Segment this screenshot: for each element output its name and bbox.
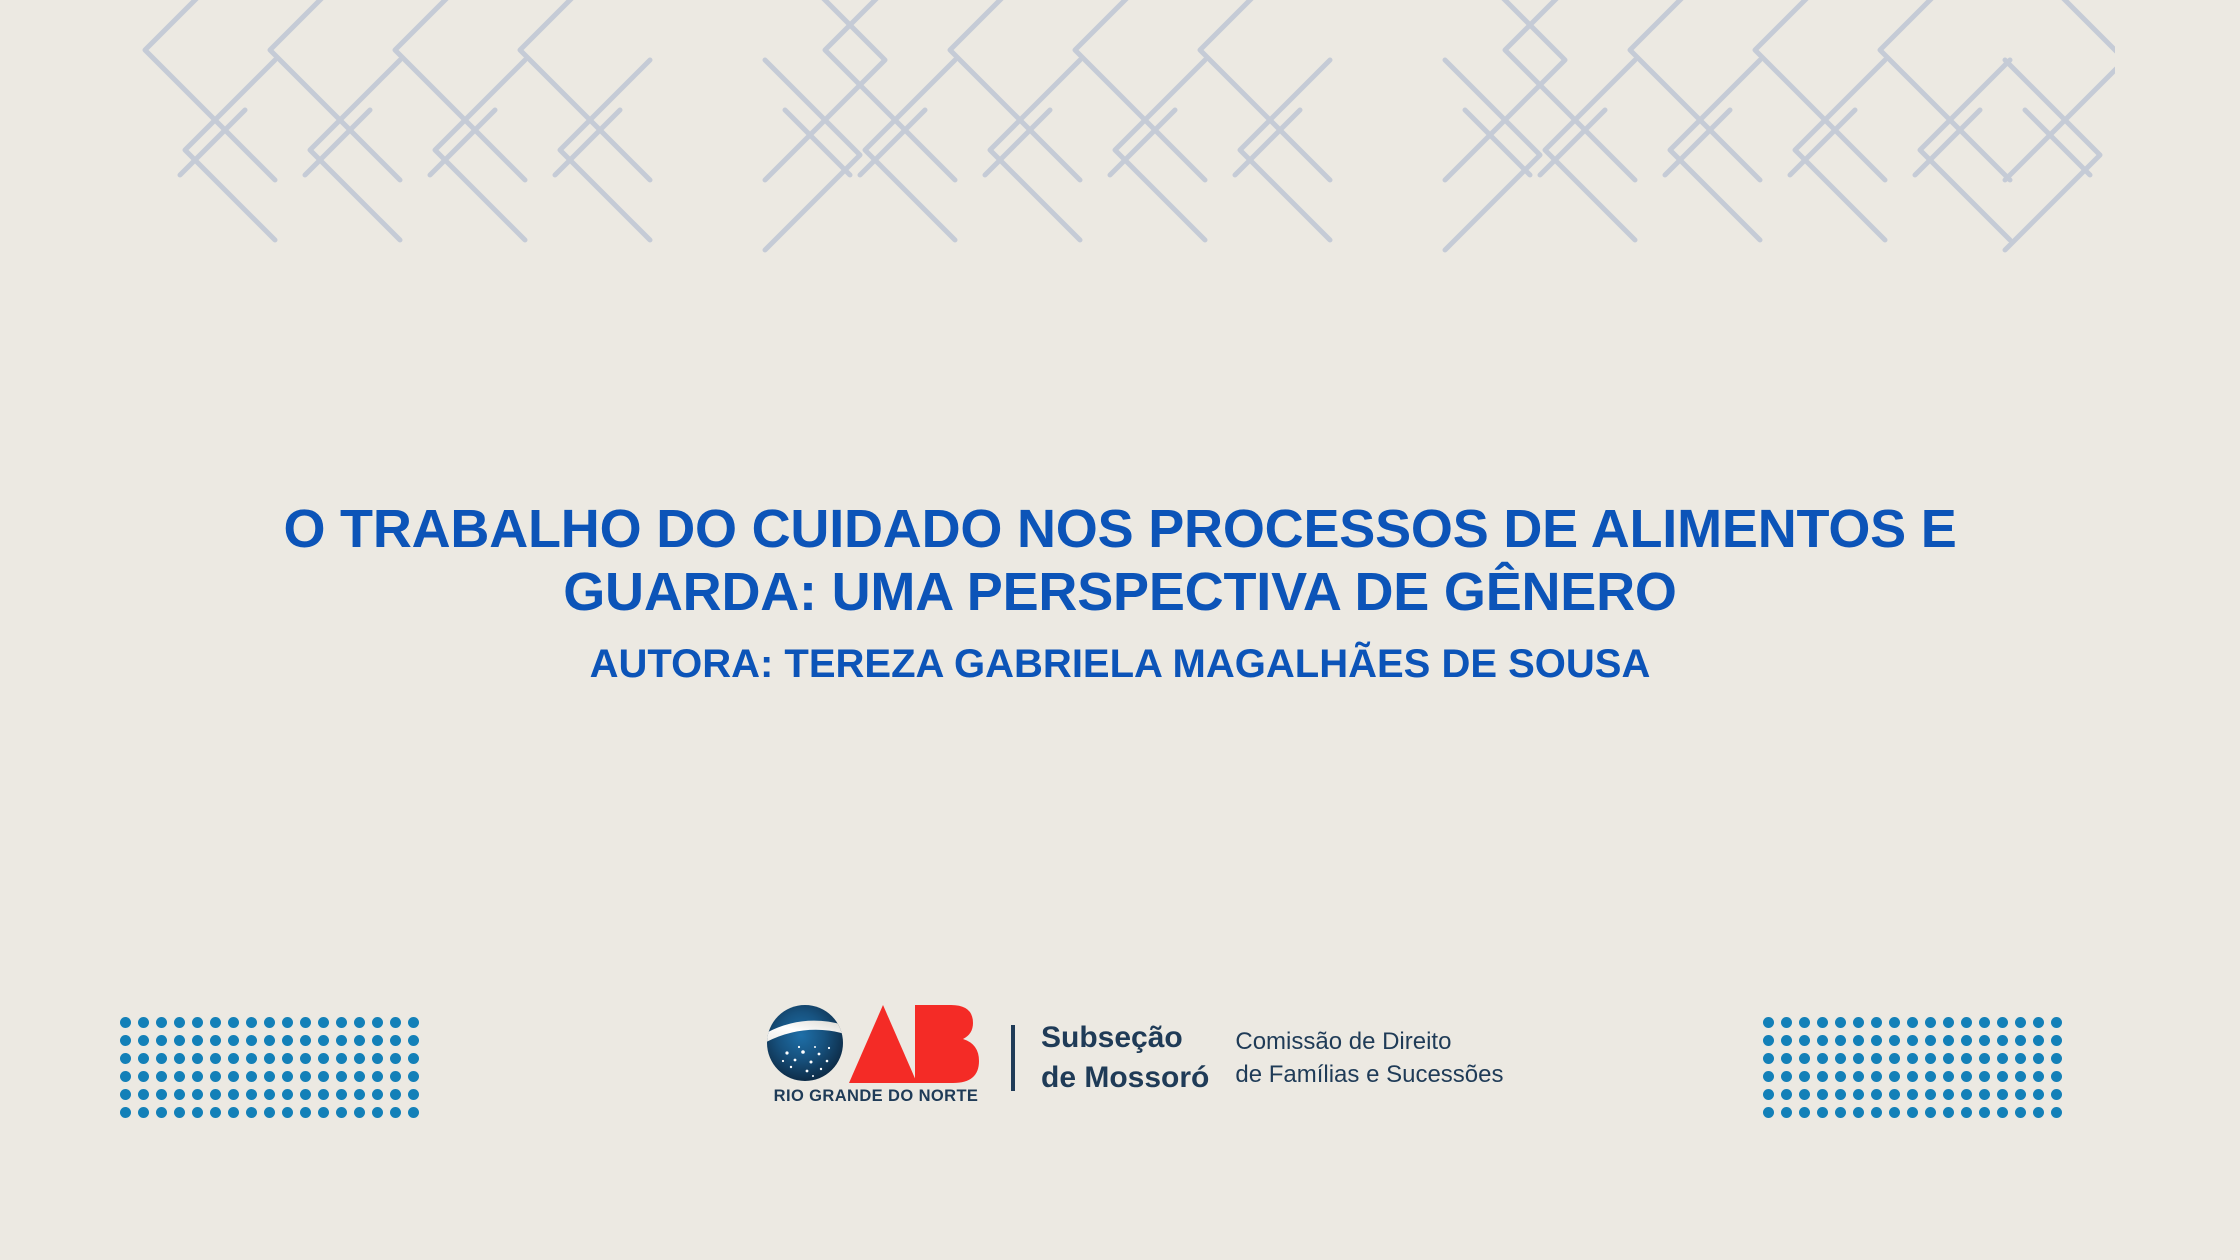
decorative-dot — [1979, 1017, 1990, 1028]
decorative-dot — [246, 1089, 257, 1100]
decorative-dot — [390, 1035, 401, 1046]
decorative-dot — [354, 1071, 365, 1082]
decorative-dot — [300, 1107, 311, 1118]
decorative-dot — [354, 1089, 365, 1100]
decorative-dot — [390, 1071, 401, 1082]
decorative-dot — [1889, 1035, 1900, 1046]
decorative-dot — [1925, 1071, 1936, 1082]
decorative-dot — [1997, 1053, 2008, 1064]
decorative-dot — [354, 1017, 365, 1028]
decorative-dot — [1853, 1089, 1864, 1100]
decorative-dot — [1889, 1089, 1900, 1100]
decorative-dot — [1925, 1035, 1936, 1046]
decorative-dot — [336, 1107, 347, 1118]
decorative-dot — [1781, 1071, 1792, 1082]
title-block: O TRABALHO DO CUIDADO NOS PROCESSOS DE A… — [0, 498, 2240, 688]
decorative-dot — [408, 1071, 419, 1082]
decorative-dot — [120, 1071, 131, 1082]
decorative-dot — [138, 1035, 149, 1046]
decorative-dot — [1979, 1107, 1990, 1118]
decorative-dot — [1781, 1017, 1792, 1028]
decorative-dot — [318, 1107, 329, 1118]
decorative-dot — [246, 1107, 257, 1118]
decorative-dot — [156, 1107, 167, 1118]
decorative-dot — [372, 1089, 383, 1100]
decorative-dot — [372, 1053, 383, 1064]
decorative-dot — [264, 1053, 275, 1064]
decorative-dot — [372, 1017, 383, 1028]
decorative-dot — [138, 1053, 149, 1064]
decorative-dot — [282, 1107, 293, 1118]
decorative-dot — [192, 1035, 203, 1046]
decorative-dot — [1853, 1017, 1864, 1028]
decorative-dot — [1889, 1017, 1900, 1028]
decorative-dot — [1871, 1071, 1882, 1082]
decorative-dot — [2033, 1035, 2044, 1046]
decorative-dot — [246, 1071, 257, 1082]
decorative-dot — [1817, 1053, 1828, 1064]
decorative-dot — [1871, 1089, 1882, 1100]
decorative-dot — [138, 1071, 149, 1082]
decorative-dot — [336, 1071, 347, 1082]
decorative-dot — [372, 1071, 383, 1082]
decorative-dot — [1925, 1089, 1936, 1100]
decorative-dot — [1781, 1053, 1792, 1064]
decorative-dot — [300, 1017, 311, 1028]
decorative-dot — [156, 1035, 167, 1046]
decorative-dot — [210, 1053, 221, 1064]
decorative-dot — [1799, 1089, 1810, 1100]
decorative-dot — [2015, 1053, 2026, 1064]
decorative-dot — [2051, 1089, 2062, 1100]
commission-line-1: Comissão de Direito — [1235, 1025, 1503, 1058]
decorative-dot — [1907, 1107, 1918, 1118]
decorative-dot — [1763, 1089, 1774, 1100]
chevron-pattern-decoration — [125, 0, 2115, 275]
decorative-dot — [2033, 1071, 2044, 1082]
decorative-dot — [156, 1053, 167, 1064]
decorative-dot — [1943, 1017, 1954, 1028]
title-slide: O TRABALHO DO CUIDADO NOS PROCESSOS DE A… — [0, 0, 2240, 1260]
decorative-dot — [354, 1053, 365, 1064]
decorative-dot — [318, 1017, 329, 1028]
decorative-dot — [156, 1089, 167, 1100]
decorative-dot — [1961, 1089, 1972, 1100]
decorative-dot — [1907, 1071, 1918, 1082]
decorative-dot — [2051, 1035, 2062, 1046]
decorative-dot — [228, 1071, 239, 1082]
decorative-dot — [390, 1053, 401, 1064]
decorative-dot — [1943, 1107, 1954, 1118]
decorative-dot — [1781, 1035, 1792, 1046]
decorative-dot — [246, 1017, 257, 1028]
decorative-dot — [210, 1089, 221, 1100]
decorative-dot — [1835, 1017, 1846, 1028]
decorative-dot — [1979, 1053, 1990, 1064]
decorative-dot — [120, 1053, 131, 1064]
decorative-dot — [1961, 1017, 1972, 1028]
decorative-dot — [174, 1053, 185, 1064]
commission-text: Comissão de Direito de Famílias e Sucess… — [1235, 1025, 1503, 1091]
commission-line-2: de Famílias e Sucessões — [1235, 1058, 1503, 1091]
decorative-dot — [408, 1035, 419, 1046]
decorative-dot — [318, 1071, 329, 1082]
decorative-dot — [1853, 1107, 1864, 1118]
decorative-dot — [300, 1071, 311, 1082]
decorative-dot — [210, 1107, 221, 1118]
decorative-dot — [228, 1053, 239, 1064]
decorative-dot — [1979, 1035, 1990, 1046]
decorative-dot — [1853, 1053, 1864, 1064]
decorative-dot — [1889, 1071, 1900, 1082]
decorative-dot — [264, 1035, 275, 1046]
decorative-dot — [2015, 1089, 2026, 1100]
decorative-dot — [1799, 1071, 1810, 1082]
author-line: AUTORA: TEREZA GABRIELA MAGALHÃES DE SOU… — [0, 640, 2240, 688]
decorative-dot — [1889, 1053, 1900, 1064]
decorative-dot — [1943, 1053, 1954, 1064]
decorative-dot — [1799, 1107, 1810, 1118]
decorative-dot — [300, 1035, 311, 1046]
decorative-dot — [192, 1017, 203, 1028]
decorative-dot — [300, 1053, 311, 1064]
decorative-dot — [282, 1071, 293, 1082]
decorative-dot — [390, 1017, 401, 1028]
decorative-dot — [120, 1089, 131, 1100]
decorative-dot — [228, 1035, 239, 1046]
decorative-dot — [2015, 1017, 2026, 1028]
decorative-dot — [210, 1035, 221, 1046]
decorative-dot — [1871, 1107, 1882, 1118]
decorative-dot — [318, 1089, 329, 1100]
decorative-dot — [1835, 1107, 1846, 1118]
decorative-dot — [174, 1017, 185, 1028]
decorative-dot — [1799, 1053, 1810, 1064]
decorative-dot — [138, 1017, 149, 1028]
decorative-dot — [264, 1071, 275, 1082]
decorative-dot — [1871, 1035, 1882, 1046]
decorative-dot — [1835, 1035, 1846, 1046]
decorative-dot — [1997, 1035, 2008, 1046]
decorative-dot — [390, 1107, 401, 1118]
decorative-dot — [1835, 1053, 1846, 1064]
decorative-dot — [372, 1107, 383, 1118]
decorative-dot — [1817, 1017, 1828, 1028]
decorative-dot — [354, 1035, 365, 1046]
decorative-dot — [1853, 1071, 1864, 1082]
decorative-dot — [174, 1071, 185, 1082]
footer-logo-lockup: RIO GRANDE DO NORTE Subseção de Mossoró … — [765, 998, 1503, 1118]
decorative-dot — [1907, 1035, 1918, 1046]
decorative-dot — [2015, 1071, 2026, 1082]
decorative-dot — [228, 1089, 239, 1100]
title-line-1: O TRABALHO DO CUIDADO NOS PROCESSOS DE A… — [0, 498, 2240, 561]
decorative-dot — [1943, 1071, 1954, 1082]
decorative-dot — [2033, 1017, 2044, 1028]
decorative-dot — [192, 1107, 203, 1118]
decorative-dot — [1817, 1089, 1828, 1100]
decorative-dot — [2051, 1107, 2062, 1118]
decorative-dot — [1961, 1035, 1972, 1046]
decorative-dot — [1997, 1017, 2008, 1028]
decorative-dot — [1925, 1053, 1936, 1064]
decorative-dot — [1871, 1053, 1882, 1064]
decorative-dot — [120, 1017, 131, 1028]
decorative-dot — [174, 1035, 185, 1046]
decorative-dot — [1943, 1035, 1954, 1046]
decorative-dot — [408, 1017, 419, 1028]
decorative-dot — [228, 1017, 239, 1028]
oab-letter-a — [849, 1005, 917, 1083]
decorative-dot — [1817, 1035, 1828, 1046]
decorative-dot — [1835, 1071, 1846, 1082]
decorative-dot — [1799, 1035, 1810, 1046]
decorative-dot — [210, 1017, 221, 1028]
decorative-dot — [138, 1107, 149, 1118]
oab-globe-icon — [765, 1005, 855, 1081]
decorative-dot — [2033, 1089, 2044, 1100]
decorative-dot — [1979, 1089, 1990, 1100]
decorative-dot — [1763, 1107, 1774, 1118]
decorative-dot — [336, 1053, 347, 1064]
decorative-dot — [2051, 1017, 2062, 1028]
decorative-dot — [1817, 1107, 1828, 1118]
decorative-dot — [282, 1053, 293, 1064]
decorative-dot — [1997, 1071, 2008, 1082]
decorative-dot — [300, 1089, 311, 1100]
subsection-line-1: Subseção — [1041, 1018, 1209, 1058]
oab-letter-b — [915, 1005, 979, 1083]
decorative-dot — [1763, 1017, 1774, 1028]
decorative-dot — [318, 1053, 329, 1064]
decorative-dot — [2051, 1071, 2062, 1082]
decorative-dot — [192, 1071, 203, 1082]
decorative-dot — [174, 1089, 185, 1100]
decorative-dot — [2051, 1053, 2062, 1064]
decorative-dot — [1907, 1089, 1918, 1100]
decorative-dot — [120, 1035, 131, 1046]
decorative-dot — [264, 1107, 275, 1118]
decorative-dot — [2033, 1107, 2044, 1118]
decorative-dot — [1763, 1053, 1774, 1064]
decorative-dot — [2033, 1053, 2044, 1064]
decorative-dot — [138, 1089, 149, 1100]
decorative-dot — [408, 1107, 419, 1118]
decorative-dot — [1853, 1035, 1864, 1046]
decorative-dot — [2015, 1035, 2026, 1046]
decorative-dot — [390, 1089, 401, 1100]
decorative-dot — [336, 1035, 347, 1046]
decorative-dot — [1961, 1071, 1972, 1082]
dot-grid-right — [1763, 1017, 2069, 1125]
decorative-dot — [282, 1017, 293, 1028]
title-line-2: GUARDA: UMA PERSPECTIVA DE GÊNERO — [0, 561, 2240, 624]
oab-logo-caption: RIO GRANDE DO NORTE — [765, 1087, 987, 1106]
decorative-dot — [156, 1071, 167, 1082]
decorative-dot — [156, 1017, 167, 1028]
decorative-dot — [174, 1107, 185, 1118]
decorative-dot — [2015, 1107, 2026, 1118]
decorative-dot — [246, 1035, 257, 1046]
decorative-dot — [1925, 1107, 1936, 1118]
decorative-dot — [1871, 1017, 1882, 1028]
oab-logo-mark — [765, 1003, 987, 1083]
vertical-divider — [1011, 1025, 1015, 1091]
dot-grid-left — [120, 1017, 426, 1125]
oab-logo: RIO GRANDE DO NORTE — [765, 1003, 987, 1113]
decorative-dot — [120, 1107, 131, 1118]
decorative-dot — [336, 1089, 347, 1100]
decorative-dot — [1907, 1053, 1918, 1064]
decorative-dot — [1961, 1107, 1972, 1118]
decorative-dot — [1997, 1089, 2008, 1100]
decorative-dot — [264, 1089, 275, 1100]
decorative-dot — [228, 1107, 239, 1118]
decorative-dot — [1835, 1089, 1846, 1100]
decorative-dot — [408, 1053, 419, 1064]
decorative-dot — [282, 1035, 293, 1046]
decorative-dot — [1889, 1107, 1900, 1118]
decorative-dot — [372, 1035, 383, 1046]
subsection-line-2: de Mossoró — [1041, 1058, 1209, 1098]
decorative-dot — [1763, 1035, 1774, 1046]
decorative-dot — [336, 1017, 347, 1028]
decorative-dot — [1943, 1089, 1954, 1100]
decorative-dot — [264, 1017, 275, 1028]
decorative-dot — [1781, 1089, 1792, 1100]
decorative-dot — [408, 1089, 419, 1100]
decorative-dot — [1781, 1107, 1792, 1118]
decorative-dot — [1961, 1053, 1972, 1064]
decorative-dot — [1979, 1071, 1990, 1082]
decorative-dot — [1763, 1071, 1774, 1082]
decorative-dot — [354, 1107, 365, 1118]
decorative-dot — [192, 1053, 203, 1064]
decorative-dot — [282, 1089, 293, 1100]
decorative-dot — [1907, 1017, 1918, 1028]
decorative-dot — [246, 1053, 257, 1064]
decorative-dot — [192, 1089, 203, 1100]
decorative-dot — [1817, 1071, 1828, 1082]
decorative-dot — [1799, 1017, 1810, 1028]
subsection-text: Subseção de Mossoró — [1041, 1018, 1209, 1098]
decorative-dot — [210, 1071, 221, 1082]
decorative-dot — [318, 1035, 329, 1046]
decorative-dot — [1925, 1017, 1936, 1028]
decorative-dot — [1997, 1107, 2008, 1118]
